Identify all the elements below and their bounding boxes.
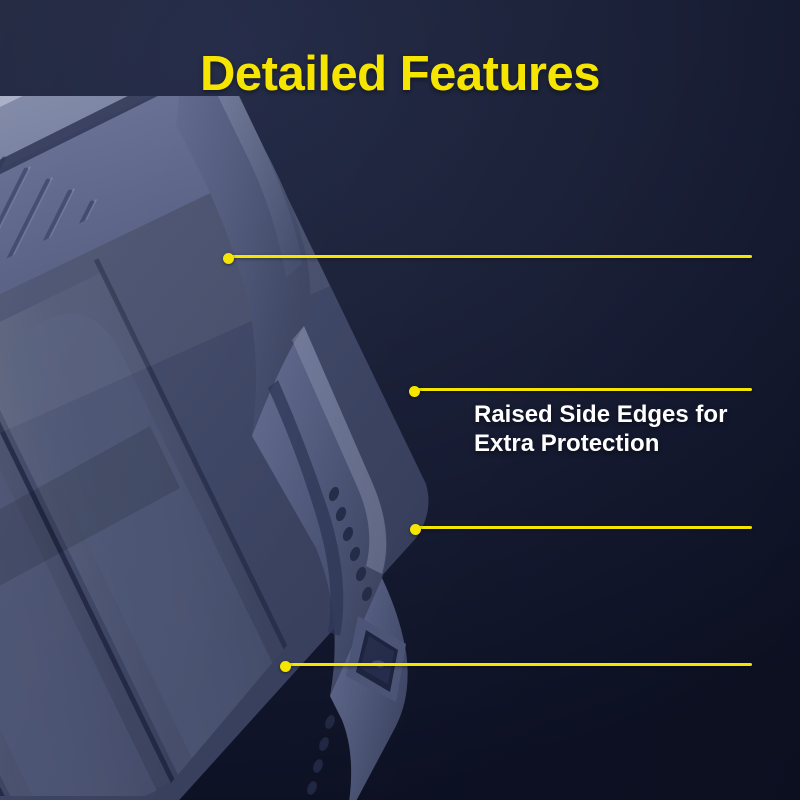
callout-dot-raised-side-edges	[409, 386, 420, 397]
callout-dot-sf-coating	[280, 661, 291, 672]
infographic-canvas: Detailed Features Superior Grip Raised S…	[0, 0, 800, 800]
phone-case-image	[0, 96, 500, 800]
callout-line-raised-side-edges	[414, 388, 752, 391]
page-title: Detailed Features	[0, 46, 800, 102]
callout-dot-perfect-cut-outs	[410, 524, 421, 535]
callout-label-raised-side-edges: Raised Side Edges for Extra Protection	[474, 400, 774, 459]
callout-label-line2: Extra Protection	[474, 430, 659, 457]
callout-line-superior-grip	[228, 255, 752, 258]
callout-line-sf-coating	[285, 663, 752, 666]
callout-line-perfect-cut-outs	[415, 526, 752, 529]
callout-dot-superior-grip	[223, 253, 234, 264]
speaker-grille-lower	[305, 714, 337, 797]
callout-label-line1: Raised Side Edges for	[474, 401, 727, 428]
